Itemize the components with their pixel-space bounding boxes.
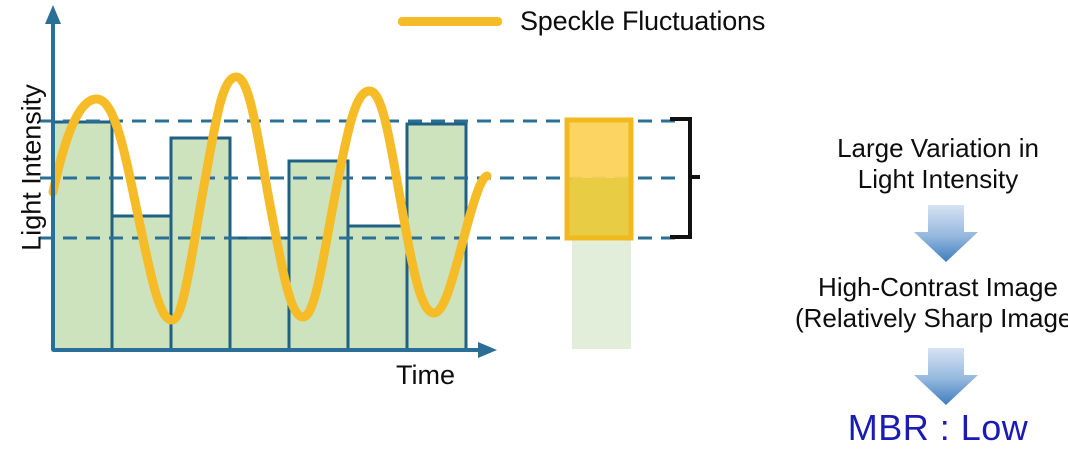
chart-graphics	[0, 0, 1068, 473]
y-axis-title: Light Intensity	[17, 73, 48, 263]
flow-step-2-line-1: High-Contrast Image	[728, 272, 1068, 303]
flow-step-large-variation: Large Variation in Light Intensity	[728, 133, 1068, 195]
flow-step-2-line-2: (Relatively Sharp Image)	[728, 303, 1068, 334]
diagram-canvas: Speckle Fluctuations	[0, 0, 1068, 473]
variation-band-upper	[567, 120, 631, 178]
flow-step-1-line-1: Large Variation in	[728, 133, 1068, 164]
arrow-down-icon	[914, 205, 978, 262]
table-row	[348, 226, 407, 350]
arrow-down-icon	[914, 348, 978, 405]
flow-step-1-line-2: Light Intensity	[728, 164, 1068, 195]
y-axis-arrowhead	[45, 5, 61, 24]
x-axis-arrowhead	[478, 342, 497, 358]
flow-step-mbr-result: MBR : Low	[728, 406, 1068, 449]
variation-bracket	[672, 119, 700, 237]
variation-band-lower	[567, 178, 631, 238]
x-axis-title: Time	[396, 360, 455, 391]
flow-step-high-contrast: High-Contrast Image (Relatively Sharp Im…	[728, 272, 1068, 334]
